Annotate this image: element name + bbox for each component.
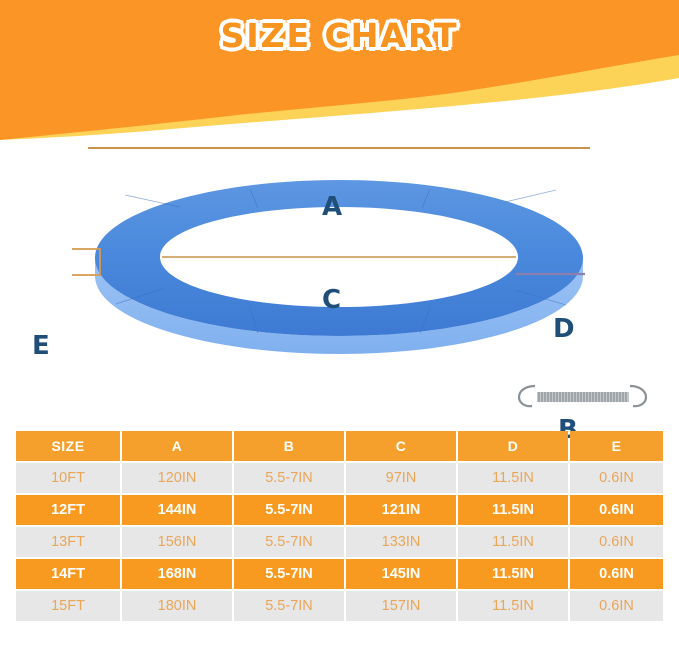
cell-a: 144IN	[122, 495, 232, 525]
trampoline-size-diagram: A C D E B	[0, 90, 679, 420]
cell-c: 121IN	[346, 495, 456, 525]
cell-a: 156IN	[122, 527, 232, 557]
trampoline-spring	[519, 386, 646, 406]
cell-d: 11.5IN	[458, 527, 568, 557]
size-chart-table: SIZE A B C D E 10FT 120IN 5.5-7IN 97IN 1…	[14, 429, 665, 623]
cell-d: 11.5IN	[458, 463, 568, 493]
cell-b: 5.5-7IN	[234, 591, 344, 621]
dimension-label-a: A	[322, 194, 342, 220]
cell-e: 0.6IN	[570, 559, 663, 589]
cell-c: 97IN	[346, 463, 456, 493]
cell-e: 0.6IN	[570, 591, 663, 621]
cell-d: 11.5IN	[458, 495, 568, 525]
spring-hook-right	[630, 386, 646, 406]
cell-d: 11.5IN	[458, 591, 568, 621]
cell-e: 0.6IN	[570, 463, 663, 493]
spring-hook-left	[519, 386, 535, 406]
page-title: SIZE CHART	[0, 16, 679, 55]
column-header-d: D	[458, 431, 568, 461]
cell-size: 12FT	[16, 495, 120, 525]
cell-a: 120IN	[122, 463, 232, 493]
column-header-c: C	[346, 431, 456, 461]
table-row: 12FT 144IN 5.5-7IN 121IN 11.5IN 0.6IN	[16, 495, 663, 525]
cell-c: 145IN	[346, 559, 456, 589]
cell-b: 5.5-7IN	[234, 527, 344, 557]
table-row: 13FT 156IN 5.5-7IN 133IN 11.5IN 0.6IN	[16, 527, 663, 557]
cell-c: 133IN	[346, 527, 456, 557]
cell-e: 0.6IN	[570, 527, 663, 557]
table-row: 14FT 168IN 5.5-7IN 145IN 11.5IN 0.6IN	[16, 559, 663, 589]
cell-d: 11.5IN	[458, 559, 568, 589]
table-row: 10FT 120IN 5.5-7IN 97IN 11.5IN 0.6IN	[16, 463, 663, 493]
cell-c: 157IN	[346, 591, 456, 621]
table-row: 15FT 180IN 5.5-7IN 157IN 11.5IN 0.6IN	[16, 591, 663, 621]
cell-size: 15FT	[16, 591, 120, 621]
dimension-label-e: E	[32, 333, 50, 359]
cell-b: 5.5-7IN	[234, 559, 344, 589]
cell-e: 0.6IN	[570, 495, 663, 525]
cell-b: 5.5-7IN	[234, 495, 344, 525]
cell-size: 10FT	[16, 463, 120, 493]
column-header-size: SIZE	[16, 431, 120, 461]
dimension-label-c: C	[322, 287, 341, 313]
table-header-row: SIZE A B C D E	[16, 431, 663, 461]
column-header-b: B	[234, 431, 344, 461]
diagram-svg	[0, 90, 679, 420]
column-header-a: A	[122, 431, 232, 461]
column-header-e: E	[570, 431, 663, 461]
cell-a: 168IN	[122, 559, 232, 589]
dimension-label-d: D	[553, 316, 575, 342]
cell-size: 14FT	[16, 559, 120, 589]
cell-size: 13FT	[16, 527, 120, 557]
cell-b: 5.5-7IN	[234, 463, 344, 493]
cell-a: 180IN	[122, 591, 232, 621]
